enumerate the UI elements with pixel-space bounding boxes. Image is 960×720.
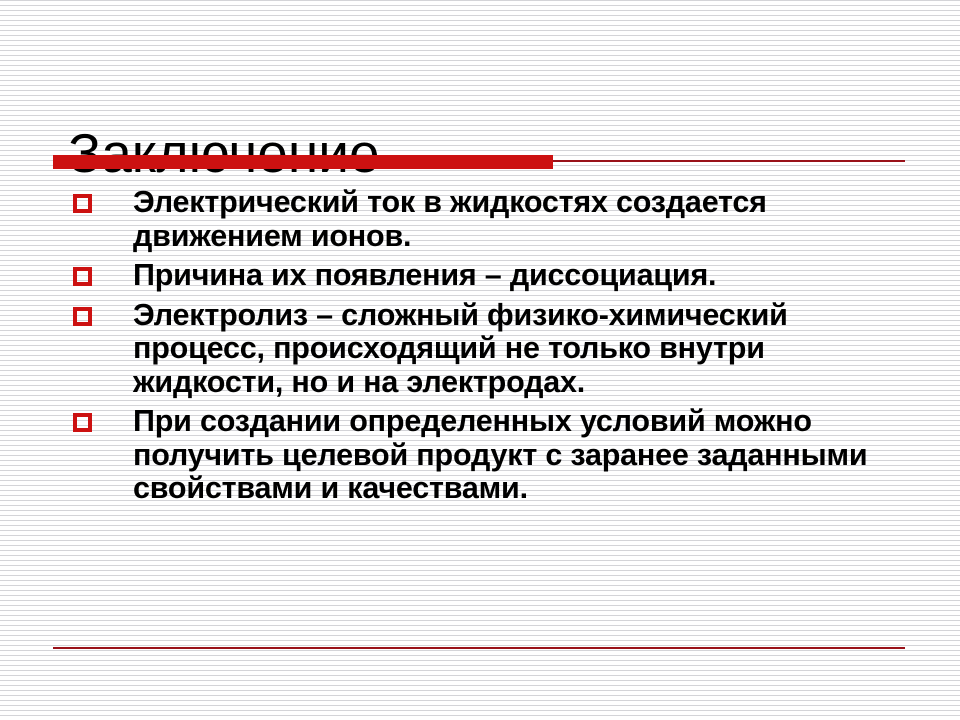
bullet-list: Электрический ток в жидкостях создается … xyxy=(64,186,894,506)
title-divider-thick-bar xyxy=(53,155,553,169)
list-item-text: Электролиз – сложный физико-химический п… xyxy=(133,299,894,400)
square-outline-bullet-icon xyxy=(73,194,92,213)
list-item-text: При создании определенных условий можно … xyxy=(133,405,894,506)
square-outline-bullet-icon xyxy=(73,413,92,432)
list-item: Электрический ток в жидкостях создается … xyxy=(64,186,894,253)
square-outline-bullet-icon xyxy=(73,307,92,326)
square-outline-bullet-icon xyxy=(73,267,92,286)
slide-title: Заключение xyxy=(68,121,380,185)
list-item-text: Электрический ток в жидкостях создается … xyxy=(133,186,894,253)
list-item: При создании определенных условий можно … xyxy=(64,405,894,506)
list-item-text: Причина их появления – диссоциация. xyxy=(133,259,894,293)
title-divider xyxy=(53,155,905,169)
footer-divider xyxy=(53,647,905,649)
list-item: Электролиз – сложный физико-химический п… xyxy=(64,299,894,400)
presentation-slide: Заключение Электрический ток в жидкостях… xyxy=(0,0,960,720)
list-item: Причина их появления – диссоциация. xyxy=(64,259,894,293)
slide-content: Заключение Электрический ток в жидкостях… xyxy=(0,0,960,720)
